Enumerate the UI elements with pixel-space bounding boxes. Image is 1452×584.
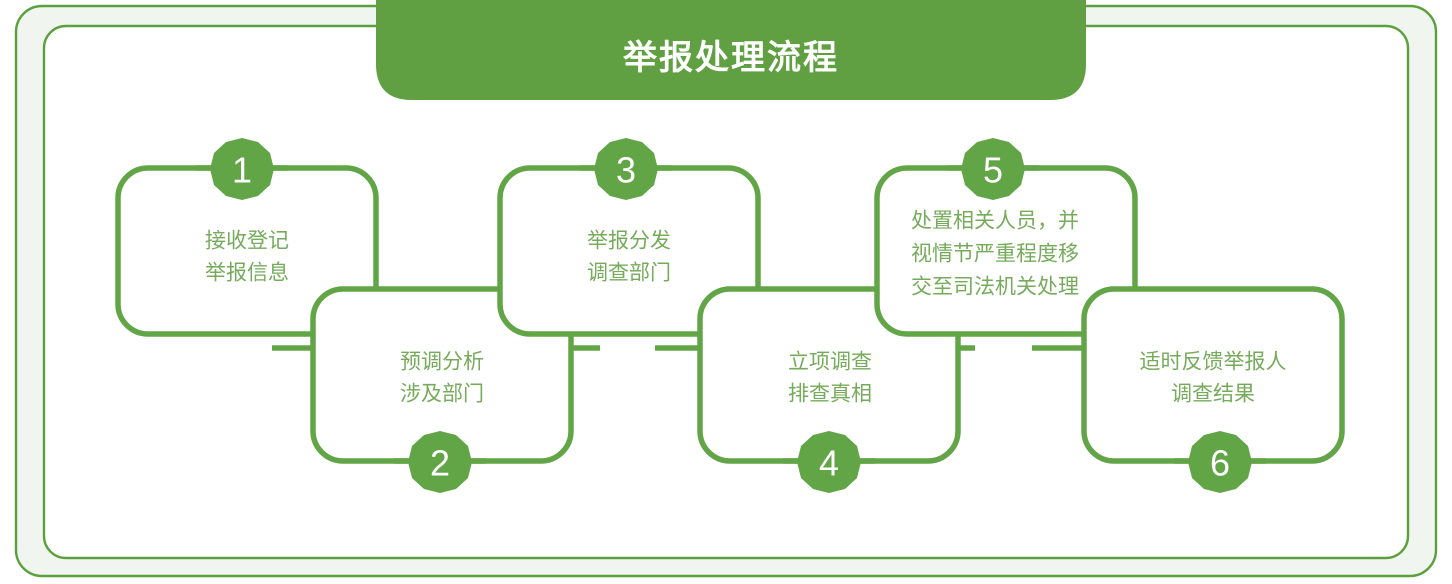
step-label-3-line-1: 举报分发 xyxy=(587,230,671,253)
flow-step-6[interactable]: 6 适时反馈举报人 调查结果 xyxy=(1084,289,1342,493)
step-label-2-line-2: 涉及部门 xyxy=(400,383,484,406)
step-number-3: 3 xyxy=(616,150,636,191)
step-number-4: 4 xyxy=(819,443,839,484)
flowchart-canvas: 举报处理流程 1 接收登记 举报信息 2 xyxy=(0,0,1452,584)
step-label-3-line-2: 调查部门 xyxy=(587,262,671,285)
step-label-4-line-1: 立项调查 xyxy=(788,351,872,374)
flow-layer: 1 接收登记 举报信息 2 预调分析 涉及部门 3 举报分发 调查部门 xyxy=(0,0,1452,584)
step-label-5-line-2: 视情节严重程度移 xyxy=(911,243,1079,266)
step-label-2-line-1: 预调分析 xyxy=(400,351,484,374)
step-label-5-line-3: 交至司法机关处理 xyxy=(911,276,1079,299)
step-number-5: 5 xyxy=(983,150,1003,191)
step-label-6-line-1: 适时反馈举报人 xyxy=(1140,351,1287,374)
step-number-1: 1 xyxy=(232,150,252,191)
step-label-4-line-2: 排查真相 xyxy=(788,383,872,406)
step-number-6: 6 xyxy=(1210,443,1230,484)
step-label-1-line-1: 接收登记 xyxy=(205,230,289,253)
step-label-1-line-2: 举报信息 xyxy=(205,262,289,285)
step-label-5-line-1: 处置相关人员，并 xyxy=(911,210,1079,233)
step-number-2: 2 xyxy=(430,443,450,484)
step-label-6-line-2: 调查结果 xyxy=(1171,383,1255,406)
